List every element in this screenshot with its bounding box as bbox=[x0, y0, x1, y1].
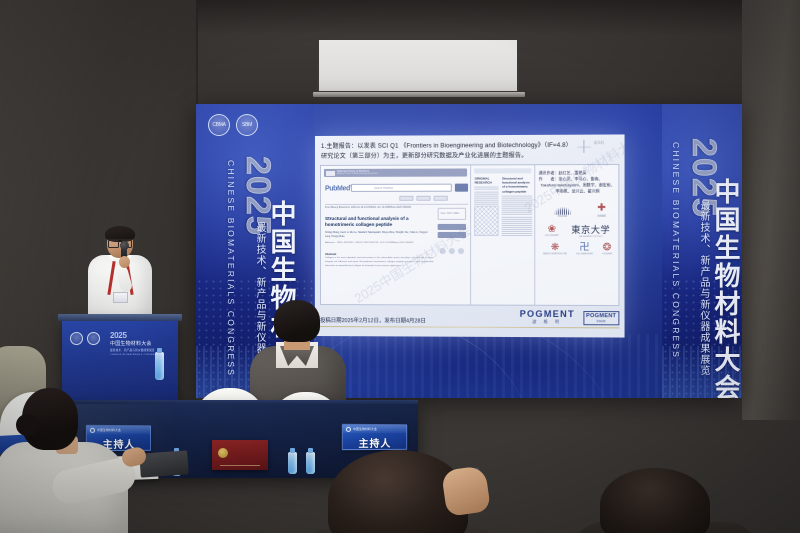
authors-and-logos-panel: 通讯作者：赵红艺、董艳英 作 者：张心灵、李可心、鲁梅、 Takafumi ta… bbox=[536, 165, 619, 305]
conference-hall-photo: CBMA SBM CHINESE BIOMATERIALS CONGRESS 2… bbox=[0, 0, 800, 533]
nih-site-subtitle: National Center for Biotechnology Inform… bbox=[337, 173, 378, 175]
pogment-chinese-name: 波 格 明 bbox=[520, 319, 575, 325]
congress-emblems: CBMA SBM bbox=[208, 114, 258, 136]
tab-user-guide[interactable] bbox=[416, 196, 430, 201]
pogment-inside-sub: inside bbox=[586, 319, 616, 323]
pubmed-article-title: Structural and functional analysis of a … bbox=[325, 216, 430, 228]
pdf-body-lines-left bbox=[475, 187, 499, 207]
slide-footer: 投稿日期2025年2月12日，发布日期4月28日 POGMENT 波 格 明 P… bbox=[320, 308, 619, 325]
logo-beijing-hospital-name: 北京医院 bbox=[597, 215, 606, 218]
pdf-article-panel: ORIGINAL RESEARCH Structural and functio… bbox=[472, 165, 536, 305]
slide-corner-logo-name: 龙马社 bbox=[594, 141, 604, 146]
logo-univ-tokyo-name: 東京大学 bbox=[571, 223, 610, 236]
pdf-left-column: ORIGINAL RESEARCH bbox=[475, 176, 499, 207]
institution-logo-grid: PHOENIX ✚ 北京医院 ❀ 北京大学深圳医院 東京大学 bbox=[539, 204, 617, 261]
lectern-text: 2025 中国生物材料大会 最新技术、新产品与新仪器成果展览 CHINESE B… bbox=[110, 331, 158, 356]
university-seal-icon: ❀ bbox=[547, 224, 556, 234]
logo-china-japan-name: 中日友好医院 bbox=[602, 253, 612, 255]
medical-cross-blue-icon: 卍 bbox=[579, 243, 589, 253]
pubmed-search-input[interactable]: Search PubMed bbox=[351, 184, 452, 192]
pdf-section-label: ORIGINAL RESEARCH bbox=[475, 176, 499, 185]
folder-seal-icon bbox=[218, 448, 228, 458]
right-vertical-banner: CHINESE BIOMATERIALS CONGRESS 2025 中国生物材… bbox=[662, 104, 742, 398]
pdf-article-heading: Structural and functional analysis of a … bbox=[502, 176, 533, 193]
logo-capital-medical-name: 首都医科大学附属北京同仁医院 bbox=[543, 253, 567, 255]
lectern-english: CHINESE BIOMATERIALS CONGRESS bbox=[110, 354, 158, 356]
pubmed-screenshot-panel: National Library of Medicine National Ce… bbox=[321, 165, 472, 304]
pubmed-share-icons[interactable] bbox=[440, 248, 464, 254]
logo-pku-shenzhen-name: 北京大学深圳医院 bbox=[545, 234, 559, 236]
logo-pku-shenzhen: ❀ 北京大学深圳医院 bbox=[545, 224, 559, 236]
pubmed-search-button[interactable] bbox=[455, 184, 468, 192]
pdf-body-lines-right bbox=[502, 195, 533, 236]
foreground-attendee-right bbox=[600, 468, 740, 533]
water-bottle-3[interactable] bbox=[288, 452, 297, 474]
conference-folder[interactable] bbox=[212, 440, 268, 470]
logo-phoenix: PHOENIX bbox=[549, 204, 576, 218]
pogment-logo: POGMENT 波 格 明 bbox=[520, 309, 575, 325]
logo-row-2: ❀ 北京大学深圳医院 東京大学 THE UNIVERSITY OF TOKYO bbox=[539, 223, 617, 238]
right-banner-subtitle: 最新技术、新产品与新仪器成果展览 bbox=[696, 200, 711, 376]
nih-logo-icon bbox=[325, 170, 334, 175]
logo-phoenix-name: PHOENIX bbox=[558, 216, 568, 218]
logo-pla-general: 卍 中国人民解放军总医院 bbox=[576, 243, 593, 255]
foreground-attendee-with-phone bbox=[318, 440, 508, 533]
logo-pla-general-name: 中国人民解放军总医院 bbox=[576, 253, 593, 255]
medical-cross-icon: ✚ bbox=[597, 204, 606, 214]
wall-seam bbox=[196, 0, 198, 108]
speaker-hand bbox=[119, 256, 130, 268]
emblem-cbma-icon: CBMA bbox=[208, 114, 230, 136]
authors-line-3: 李雨帆、龙兴云、翟兴炯 bbox=[539, 188, 617, 194]
share-icon[interactable] bbox=[440, 248, 446, 254]
pubmed-journal-line: Front Bioeng Biotechnol. 2025 Apr 28;13:… bbox=[325, 207, 411, 211]
logo-univ-tokyo: 東京大学 THE UNIVERSITY OF TOKYO bbox=[571, 223, 610, 238]
projected-slide: 1.主题报告：以发表 SCI Q1 《Frontiers in Bioengin… bbox=[315, 134, 625, 337]
pubmed-logo: PubMed® bbox=[325, 184, 352, 192]
water-bottle-4[interactable] bbox=[306, 452, 315, 474]
seal-icon: ❋ bbox=[551, 243, 560, 253]
right-banner-title: 中国生物材料大会 bbox=[708, 178, 742, 398]
pdf-running-head bbox=[475, 168, 532, 173]
tablet-device[interactable] bbox=[139, 450, 189, 477]
slide-footer-rule bbox=[320, 326, 619, 328]
logo-row-3: ❋ 首都医科大学附属北京同仁医院 卍 中国人民解放军总医院 ❂ 中日友好医院 bbox=[539, 243, 617, 255]
nih-site-bar: National Library of Medicine National Ce… bbox=[324, 168, 468, 176]
slide-content-area: National Library of Medicine National Ce… bbox=[320, 164, 619, 306]
soundwave-icon bbox=[549, 204, 576, 215]
lectern-subtitle: 最新技术、新产品与新仪器成果展览 bbox=[110, 348, 158, 352]
name-card-header-right: 中国生物材料大会 bbox=[343, 425, 406, 433]
logo-capital-medical: ❋ 首都医科大学附属北京同仁医院 bbox=[543, 243, 567, 255]
folder-line bbox=[220, 465, 260, 466]
authors-block: 通讯作者：赵红艺、董艳英 作 者：张心灵、李可心、鲁梅、 Takafumi ta… bbox=[539, 170, 617, 195]
twitter-icon[interactable] bbox=[449, 248, 455, 254]
tab-save[interactable] bbox=[434, 196, 448, 201]
logo-row-1: PHOENIX ✚ 北京医院 bbox=[539, 204, 617, 218]
pubmed-search-placeholder: Search PubMed bbox=[374, 186, 393, 189]
right-wall bbox=[742, 0, 800, 420]
lectern-year: 2025 bbox=[110, 331, 158, 340]
pubmed-affiliation-line: Affiliations · PMID: 40352350 · PMCID: P… bbox=[325, 242, 430, 246]
slide-brand-area: POGMENT 波 格 明 POGMENT inside bbox=[520, 309, 620, 326]
logo-beijing-hospital: ✚ 北京医院 bbox=[597, 204, 606, 218]
pubmed-logo-text: PubMed bbox=[325, 185, 350, 192]
standing-speaker bbox=[82, 228, 158, 324]
pubmed-fulltext-links-box: FULL TEXT LINKS bbox=[438, 208, 466, 220]
microphone-icon bbox=[120, 241, 129, 250]
pubmed-nav-tabs[interactable] bbox=[399, 196, 447, 201]
pubmed-cite-button[interactable] bbox=[438, 224, 466, 230]
foreground-hand bbox=[441, 465, 491, 517]
tab-advanced[interactable] bbox=[399, 196, 413, 201]
pubmed-abstract-text: Collagen is the most abundant structural… bbox=[325, 257, 434, 269]
name-card-emblem-icon-right bbox=[346, 426, 351, 431]
right-banner-english: CHINESE BIOMATERIALS CONGRESS bbox=[671, 142, 681, 359]
lectern-title: 中国生物材料大会 bbox=[110, 340, 158, 347]
pdf-figure-thumbnail bbox=[475, 206, 499, 236]
lectern-top-surface bbox=[58, 314, 182, 321]
lectern-emblem-1-icon bbox=[70, 332, 83, 345]
pogment-wordmark: POGMENT bbox=[520, 309, 575, 319]
lectern-emblems bbox=[70, 332, 100, 345]
projector-screen-bar bbox=[313, 92, 525, 97]
pubmed-fulltext-label: FULL TEXT LINKS bbox=[441, 213, 460, 215]
emblem-sbm-icon: SBM bbox=[236, 114, 258, 136]
slide-corner-logo: 龙马社 bbox=[573, 139, 620, 155]
pubmed-divider bbox=[325, 204, 468, 205]
left-banner-english: CHINESE BIOMATERIALS CONGRESS bbox=[226, 160, 236, 377]
pubmed-abstract-heading: Abstract bbox=[325, 252, 336, 256]
pdf-right-column: Structural and functional analysis of a … bbox=[502, 176, 533, 237]
lectern-emblem-2-icon bbox=[87, 332, 100, 345]
water-bottle-podium bbox=[155, 352, 164, 380]
logo-univ-tokyo-sub: THE UNIVERSITY OF TOKYO bbox=[579, 236, 603, 238]
facebook-icon[interactable] bbox=[458, 248, 464, 254]
pogment-inside-badge: POGMENT inside bbox=[583, 311, 619, 325]
attendee-head bbox=[274, 300, 320, 342]
slide-title-line-1: 1.主题报告：以发表 SCI Q1 《Frontiers in Bioengin… bbox=[321, 142, 572, 150]
speaker-badge bbox=[113, 292, 128, 303]
moderator-hair-bun bbox=[16, 414, 38, 436]
seated-moderator-left bbox=[0, 388, 140, 533]
pubmed-article-authors: Xinling Zhang, Kexin Li, Mei Lu, Takafum… bbox=[325, 231, 430, 239]
name-card-congress-name-right: 中国生物材料大会 bbox=[353, 427, 377, 431]
pubmed-collections-button[interactable] bbox=[438, 232, 466, 238]
dragonfly-logo-icon bbox=[577, 140, 590, 153]
seal-red-icon: ❂ bbox=[603, 243, 612, 253]
logo-china-japan: ❂ 中日友好医院 bbox=[602, 243, 612, 255]
projector-screen-blank bbox=[317, 38, 519, 94]
right-attendee-head bbox=[600, 468, 710, 533]
